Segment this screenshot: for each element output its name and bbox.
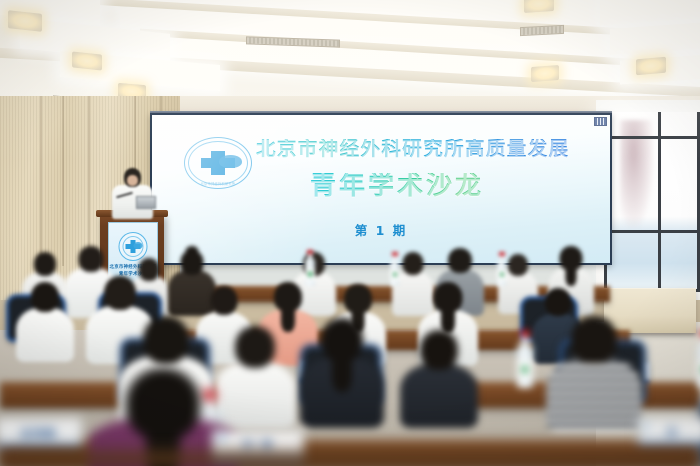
water-bottle — [390, 252, 399, 286]
recessed-downlight — [72, 51, 102, 70]
slide-institute-logo-icon: 北京市神经外科研究所 — [184, 137, 252, 189]
speaker-face — [127, 175, 138, 186]
logo-arc-text: 北京市神经外科研究所 — [185, 181, 251, 186]
water-bottle — [497, 252, 506, 286]
right-window — [604, 112, 700, 292]
slide-subtitle: 青年学术沙龙 — [310, 173, 484, 199]
attendee — [300, 318, 384, 422]
attendee — [546, 316, 642, 424]
podium-logo-icon — [119, 232, 148, 261]
attendee — [16, 282, 74, 358]
projection-screen-frame: 北京市神经外科研究所 北京市神经外科研究所高质量发展 青年学术沙龙 第 1 期 — [150, 113, 612, 265]
placard-front-left: 金海峰 — [0, 418, 82, 448]
placard-text: 孙 — [667, 424, 679, 439]
projection-screen: 北京市神经外科研究所 北京市神经外科研究所高质量发展 青年学术沙龙 第 1 期 — [152, 115, 610, 263]
recessed-downlight — [524, 0, 554, 13]
foreground-desk-edge — [0, 452, 700, 466]
recessed-downlight — [636, 57, 666, 76]
medical-cross-icon — [201, 151, 235, 175]
laptop-icon — [136, 196, 156, 209]
placard-text: 金海峰 — [21, 425, 57, 440]
recessed-downlight — [531, 65, 559, 82]
conference-photo: 北京市神经外科研究所 北京市神经外科研究所高质量发展 青年学术沙龙 第 1 期 … — [0, 0, 700, 466]
water-bottle — [305, 250, 315, 286]
water-bottle — [517, 330, 533, 388]
ir-sensor-icon — [594, 117, 607, 126]
slide-issue-number: 第 1 期 — [152, 220, 610, 239]
recessed-downlight — [8, 10, 42, 32]
placard-text: 刘 涛 — [242, 437, 274, 453]
slide-title: 北京市神经外科研究所高质量发展 — [256, 139, 570, 159]
placard-front-right: 孙 — [638, 418, 700, 446]
attendee — [400, 330, 478, 422]
speaker — [110, 168, 154, 218]
brain-motif-icon — [219, 155, 241, 168]
